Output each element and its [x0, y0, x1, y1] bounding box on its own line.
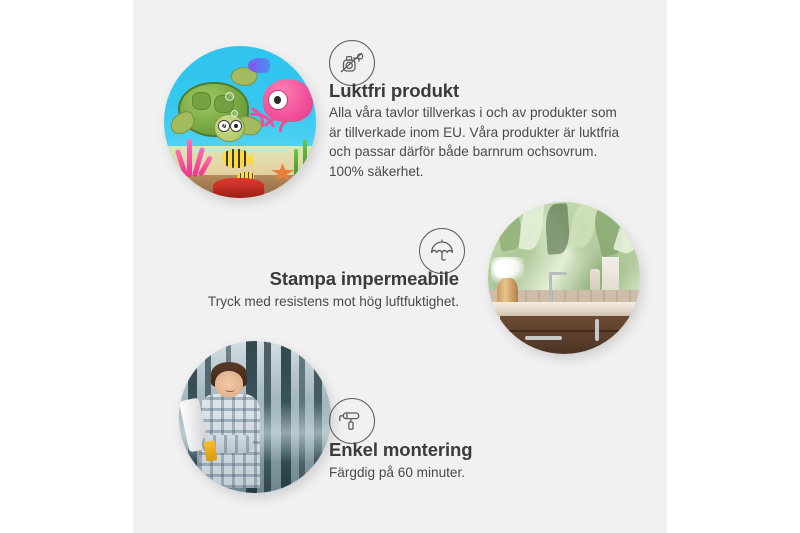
feature-waterproof-print: Stampa impermeabile Tryck med resistens …: [133, 200, 667, 340]
feature-body: Färgdig på 60 minuter.: [329, 463, 621, 483]
feature-title: Luktfri produkt: [329, 80, 459, 102]
feature-title: Enkel montering: [329, 439, 472, 461]
feature-odour-free: Luktfri produkt Alla våra tavlor tillver…: [133, 0, 667, 200]
content-panel: Luktfri produkt Alla våra tavlor tillver…: [133, 0, 667, 533]
feature-body: Tryck med resistens mot hög luftfuktighe…: [133, 292, 459, 312]
feature-body: Alla våra tavlor tillverkas i och av pro…: [329, 103, 621, 181]
paint-roller-icon: [329, 398, 375, 444]
feature-easy-installation: Enkel montering Färgdig på 60 minuter.: [133, 340, 667, 500]
feature-title: Stampa impermeabile: [133, 268, 459, 290]
promo-infographic-page: Luktfri produkt Alla våra tavlor tillver…: [0, 0, 800, 533]
